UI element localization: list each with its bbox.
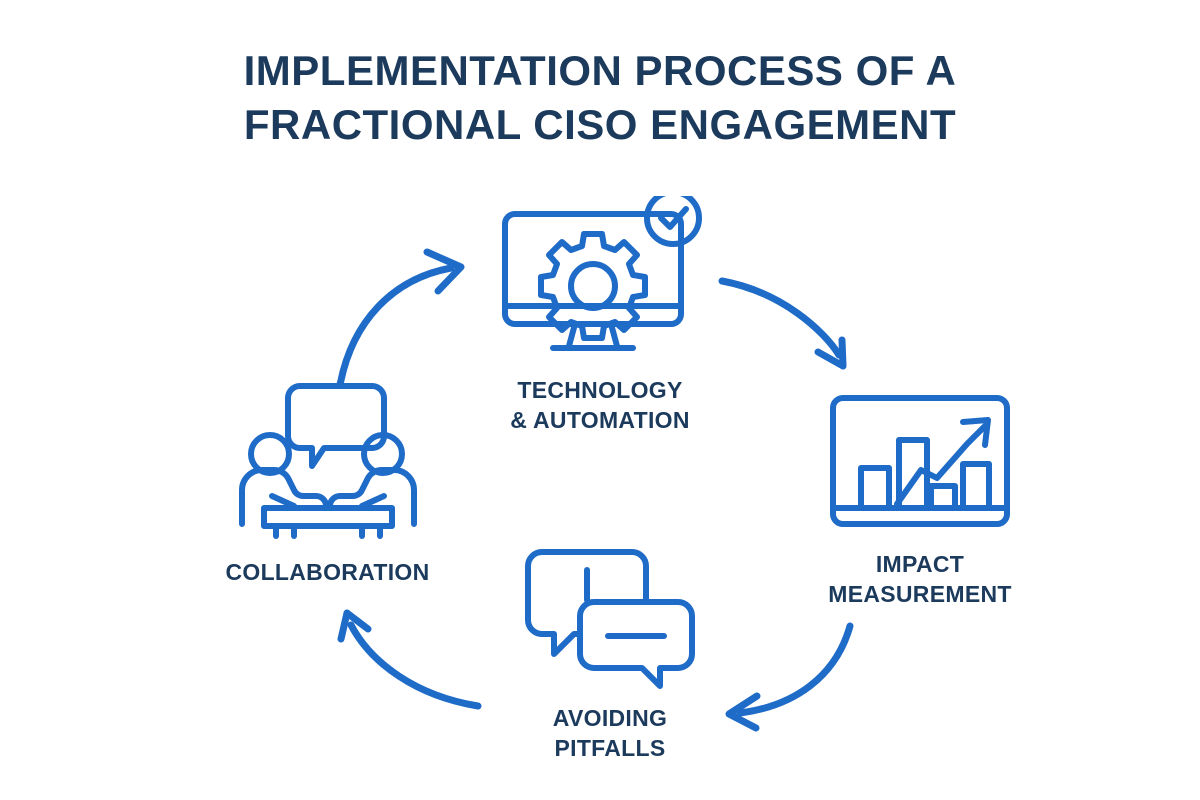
- bar-chart-growth-icon: [827, 392, 1013, 534]
- stage-impact-label-line-1: IMPACT: [876, 551, 964, 577]
- stage-collaboration[interactable]: COLLABORATION: [190, 378, 465, 588]
- page-title: IMPLEMENTATION PROCESS OF A FRACTIONAL C…: [0, 44, 1200, 152]
- stage-collaboration-label: COLLABORATION: [225, 558, 429, 588]
- speech-bubbles-alert-icon: [520, 544, 700, 692]
- infographic-canvas: IMPLEMENTATION PROCESS OF A FRACTIONAL C…: [0, 0, 1200, 800]
- stage-impact-label: IMPACT MEASUREMENT: [828, 550, 1011, 610]
- page-title-line-1: IMPLEMENTATION PROCESS OF A: [0, 44, 1200, 98]
- stage-impact[interactable]: IMPACT MEASUREMENT: [790, 392, 1050, 610]
- arrow-collaboration-to-technology: [340, 252, 461, 385]
- stage-technology-label-line-1: TECHNOLOGY: [517, 377, 682, 403]
- stage-pitfalls[interactable]: AVOIDING PITFALLS: [480, 544, 740, 764]
- stage-impact-label-line-2: MEASUREMENT: [828, 581, 1011, 607]
- arrow-impact-to-pitfalls: [729, 626, 850, 728]
- stage-pitfalls-label-line-2: PITFALLS: [554, 735, 665, 761]
- stage-pitfalls-label-line-1: AVOIDING: [553, 705, 667, 731]
- arrow-pitfalls-to-collaboration: [341, 613, 478, 706]
- stage-pitfalls-label: AVOIDING PITFALLS: [553, 704, 667, 764]
- stage-technology[interactable]: TECHNOLOGY & AUTOMATION: [455, 196, 745, 436]
- stage-technology-label-line-2: & AUTOMATION: [510, 407, 690, 433]
- page-title-line-2: FRACTIONAL CISO ENGAGEMENT: [0, 98, 1200, 152]
- stage-collaboration-label-line-1: COLLABORATION: [225, 559, 429, 585]
- people-meeting-icon: [228, 378, 428, 540]
- monitor-gear-check-icon: [485, 196, 715, 366]
- stage-technology-label: TECHNOLOGY & AUTOMATION: [510, 376, 690, 436]
